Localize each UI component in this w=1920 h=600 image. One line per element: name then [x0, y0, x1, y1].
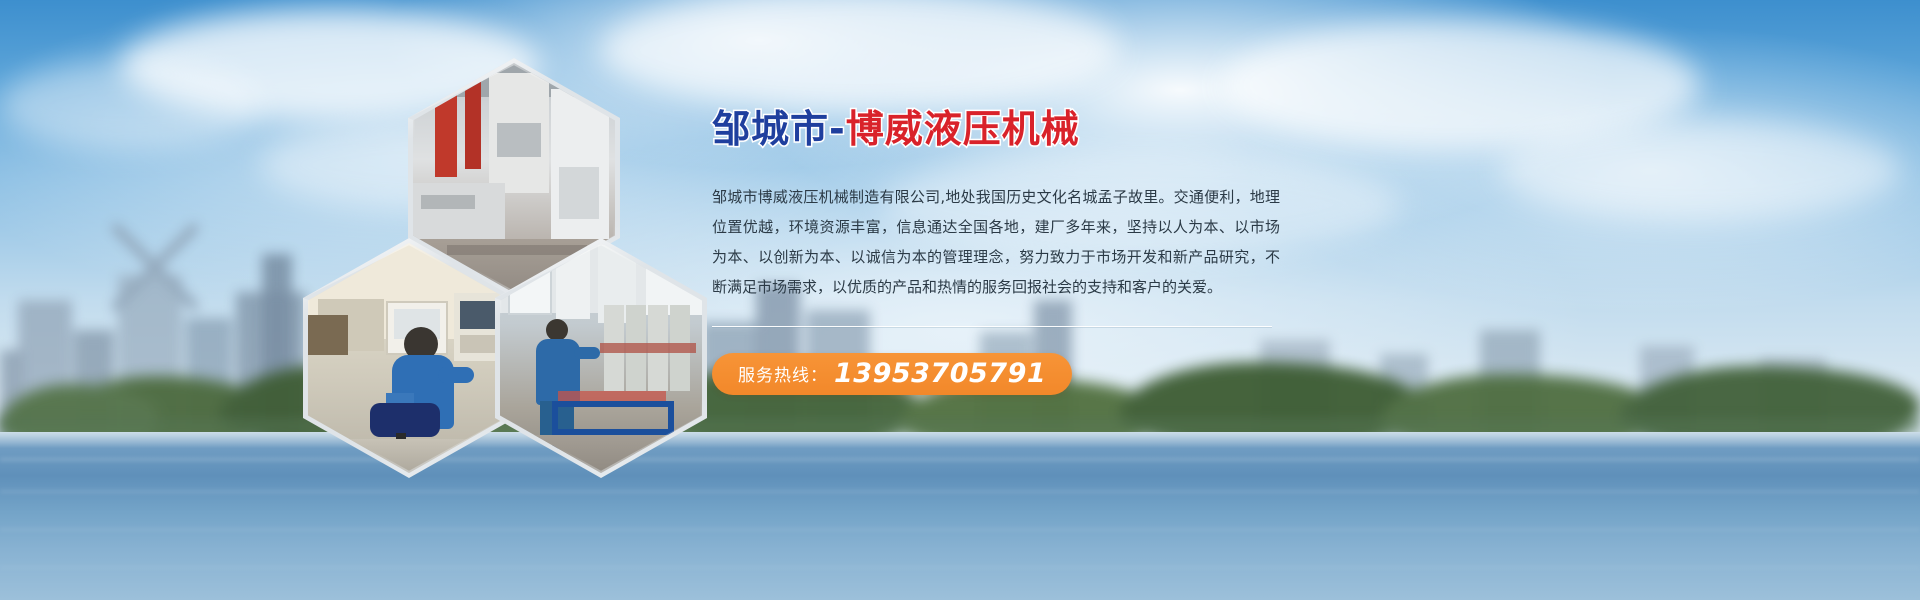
hex-photo-cluster [300, 58, 700, 438]
title-accent: 博威液压机械 [846, 107, 1080, 151]
hotline-label: 服务热线： [738, 361, 828, 386]
water-highlight [0, 432, 1920, 448]
hero-banner: 邹城市-博威液压机械 邹城市博威液压机械制造有限公司,地处我国历史文化名城孟子故… [0, 0, 1920, 600]
page-title: 邹城市-博威液压机械 [712, 108, 1292, 152]
hotline-number[interactable]: 13953705791 [834, 358, 1046, 389]
title-primary: 邹城市- [712, 107, 846, 151]
company-description: 邹城市博威液压机械制造有限公司,地处我国历史文化名城孟子故里。交通便利，地理位置… [712, 182, 1280, 302]
hotline-button[interactable]: 服务热线： 13953705791 [712, 353, 1072, 395]
water-background [0, 432, 1920, 600]
cloud-shape [0, 60, 260, 150]
content-divider [712, 326, 1272, 327]
banner-content: 邹城市-博威液压机械 邹城市博威液压机械制造有限公司,地处我国历史文化名城孟子故… [712, 108, 1292, 395]
